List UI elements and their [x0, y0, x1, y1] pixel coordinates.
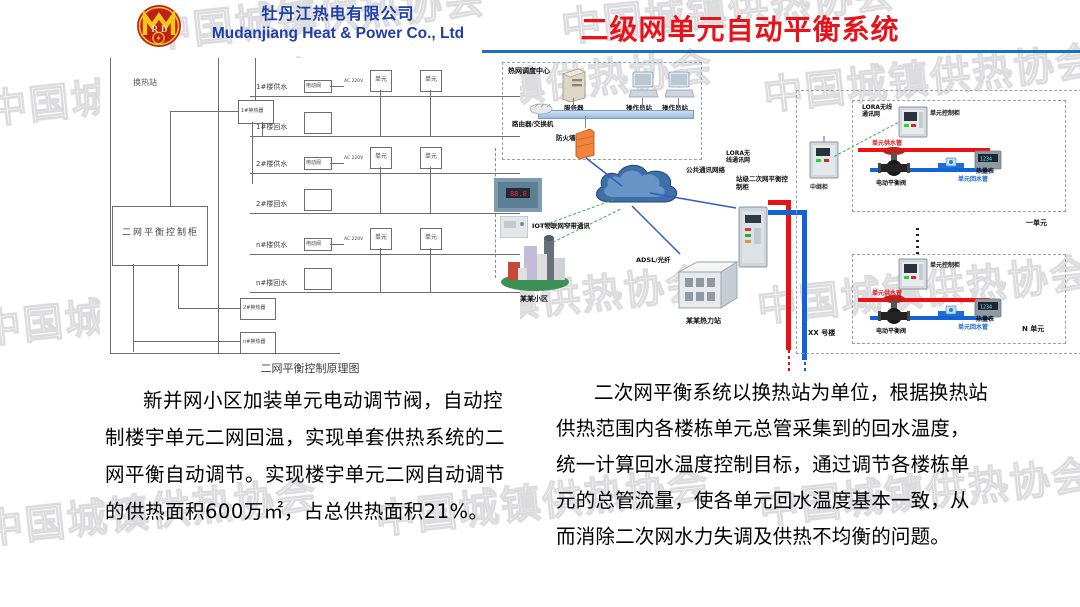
label-community: 某某小区 [520, 294, 548, 304]
unit-cabinet-icon [898, 106, 928, 143]
node-meter-2 [304, 189, 332, 211]
label-riser-2a: 单元 [375, 154, 387, 160]
slide-header: R D 牡丹江热电有限公司 Mudanjiang Heat & Power Co… [0, 0, 1080, 58]
left-description-paragraph: 新并网小区加装单元电动调节阀，自动控制楼宇单元二网回温，实现单套供热系统的二网平… [105, 382, 517, 530]
svg-text:1234: 1234 [980, 305, 992, 311]
label-iot-link: IOT物联网窄带通讯 [532, 220, 590, 230]
iot-meter-icon: 88.8 [494, 178, 542, 217]
company-identity: 牡丹江热电有限公司 Mudanjiang Heat & Power Co., L… [188, 4, 488, 44]
label-branch-2-supply: 2#楼供水 [256, 161, 287, 167]
flow-sensor-icon [938, 156, 964, 179]
label-valve-n: 电动阀 [306, 241, 321, 247]
label-two-net-balance-cabinet: 二网平衡控制柜 [122, 230, 199, 236]
label-lora-net-left: LORA无线通讯网 [726, 150, 752, 164]
label-power-n: AC 220V [344, 237, 363, 243]
heat-station-icon [675, 258, 739, 319]
unit-cabinet-icon [898, 258, 928, 295]
label-riser-2b: 单元 [425, 154, 437, 160]
label-lora-net-unit1: LORA无线通讯网 [862, 104, 892, 118]
community-buildings-icon [498, 232, 572, 297]
title-divider [482, 50, 1080, 53]
label-heat-exchanger-2: 2#换热器 [243, 305, 265, 311]
page-title: 二级网单元自动平衡系统 [540, 8, 940, 48]
company-name-cn: 牡丹江热电有限公司 [188, 4, 488, 24]
left-diagram-caption: 二网平衡控制原理图 [100, 360, 520, 376]
label-relay-cabinet: 中继柜 [810, 182, 828, 191]
label-building: XX 号楼 [808, 328, 835, 338]
label-adsl: ADSL/光纤 [636, 254, 671, 264]
label-station: 换热站 [133, 80, 157, 86]
label-branch-2-return: 2#楼回水 [256, 201, 287, 207]
label-heat-exchanger-n: n#换热器 [243, 339, 265, 345]
label-unit-cabinet-n: 单元控制柜 [930, 260, 960, 269]
node-meter-1 [304, 112, 332, 134]
label-heat-meter-n: 热量表 [976, 314, 994, 323]
label-branch-1-return: 1#楼回水 [256, 124, 287, 130]
right-description-paragraph: 二次网平衡系统以换热站为单位，根据换热站供热范围内各楼栋单元总管采集到的回水温度… [556, 375, 988, 555]
node-meter-n [304, 268, 332, 290]
label-valve-1: 电动阀 [306, 83, 321, 89]
label-heat-exchanger-1: 1#换热器 [241, 108, 263, 114]
station-cabinet-icon [738, 206, 768, 273]
label-balance-valve-1: 电动平衡阀 [876, 178, 906, 187]
label-branch-n-supply: n#楼供水 [256, 242, 287, 248]
label-heat-meter-1: 热量表 [976, 166, 994, 175]
balance-control-schematic: 换热站 1#换热器 二网平衡控制柜 2#换热器 n#换热器 1#楼供水 电动阀 … [100, 58, 520, 358]
balance-valve-icon [878, 294, 910, 329]
company-name-en: Mudanjiang Heat & Power Co., Ltd [188, 24, 488, 44]
svg-text:88.8: 88.8 [510, 190, 527, 198]
label-valve-2: 电动阀 [306, 160, 321, 166]
label-riser-1a: 单元 [375, 77, 387, 83]
label-unit-first: 一单元 [1026, 218, 1047, 228]
flow-sensor-icon [938, 304, 964, 327]
label-riser-na: 单元 [375, 235, 387, 241]
label-branch-1-supply: 1#楼供水 [256, 84, 287, 90]
system-topology-diagram: 热网调度中心 服务器 操作员站 操作员站 [490, 58, 1080, 368]
label-balance-valve-n: 电动平衡阀 [876, 326, 906, 335]
balance-valve-icon [878, 146, 910, 181]
relay-cabinet-icon [808, 136, 840, 185]
label-unit-n: N 单元 [1022, 324, 1044, 334]
svg-text:D: D [161, 24, 168, 34]
label-station-cabinet: 站级二次网平衡控制柜 [736, 175, 794, 191]
label-riser-nb: 单元 [425, 235, 437, 241]
label-power-2: AC 220V [344, 156, 363, 162]
label-unit-cabinet-1: 单元控制柜 [930, 108, 960, 117]
label-heat-station: 某某热力站 [686, 316, 721, 326]
label-riser-1b: 单元 [425, 77, 437, 83]
label-branch-n-return: n#楼回水 [256, 280, 287, 286]
main-supply-pipe [786, 200, 791, 350]
mudanjiang-heat-power-logo-icon: R D [136, 4, 182, 48]
svg-text:1234: 1234 [980, 157, 992, 163]
label-power-1: AC 220V [344, 79, 363, 85]
